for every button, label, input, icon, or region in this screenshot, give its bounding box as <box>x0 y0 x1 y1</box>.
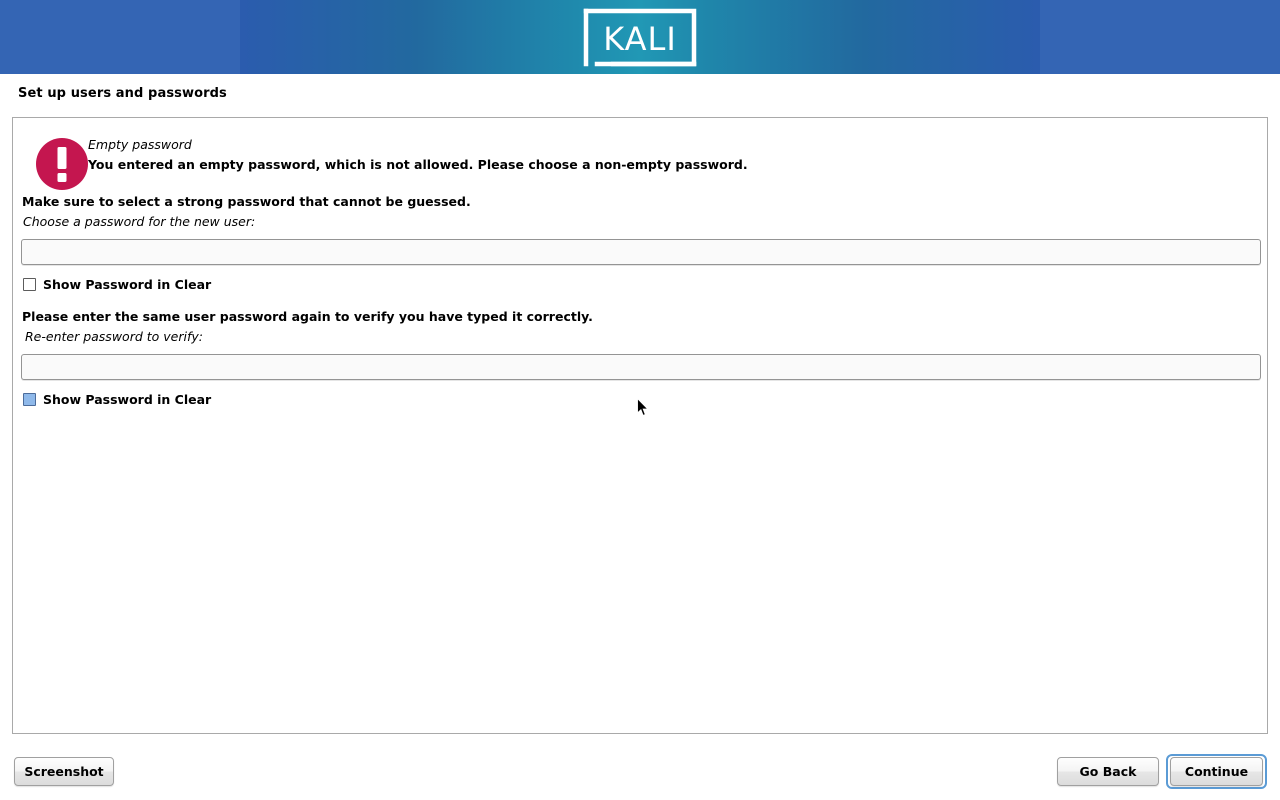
continue-button[interactable]: Continue <box>1170 757 1263 786</box>
alert-message: You entered an empty password, which is … <box>88 155 748 175</box>
verify-section-heading: Please enter the same user password agai… <box>22 309 593 324</box>
show-password-label-1: Show Password in Clear <box>43 277 211 292</box>
password-section-heading: Make sure to select a strong password th… <box>22 194 471 209</box>
verify-password-input[interactable] <box>21 354 1261 380</box>
show-password-checkbox-2[interactable] <box>23 393 36 406</box>
alert-banner: Empty password You entered an empty pass… <box>21 128 1261 188</box>
alert-title: Empty password <box>88 136 748 154</box>
show-password-label-2: Show Password in Clear <box>43 392 211 407</box>
alert-text-block: Empty password You entered an empty pass… <box>88 136 748 175</box>
kali-logo-icon: KALI <box>583 8 697 67</box>
screenshot-button[interactable]: Screenshot <box>14 757 114 786</box>
show-password-checkbox-1[interactable] <box>23 278 36 291</box>
show-password-checkbox-row-2[interactable]: Show Password in Clear <box>23 392 211 407</box>
kali-banner: KALI <box>0 0 1280 74</box>
go-back-button[interactable]: Go Back <box>1057 757 1159 786</box>
page-title: Set up users and passwords <box>18 86 227 101</box>
show-password-checkbox-row-1[interactable]: Show Password in Clear <box>23 277 211 292</box>
installer-content-panel: Empty password You entered an empty pass… <box>12 117 1268 734</box>
svg-text:KALI: KALI <box>603 20 677 58</box>
verify-field-label: Re-enter password to verify: <box>25 329 203 344</box>
password-input[interactable] <box>21 239 1261 265</box>
password-field-label: Choose a password for the new user: <box>23 214 255 229</box>
error-exclamation-icon <box>34 136 90 192</box>
